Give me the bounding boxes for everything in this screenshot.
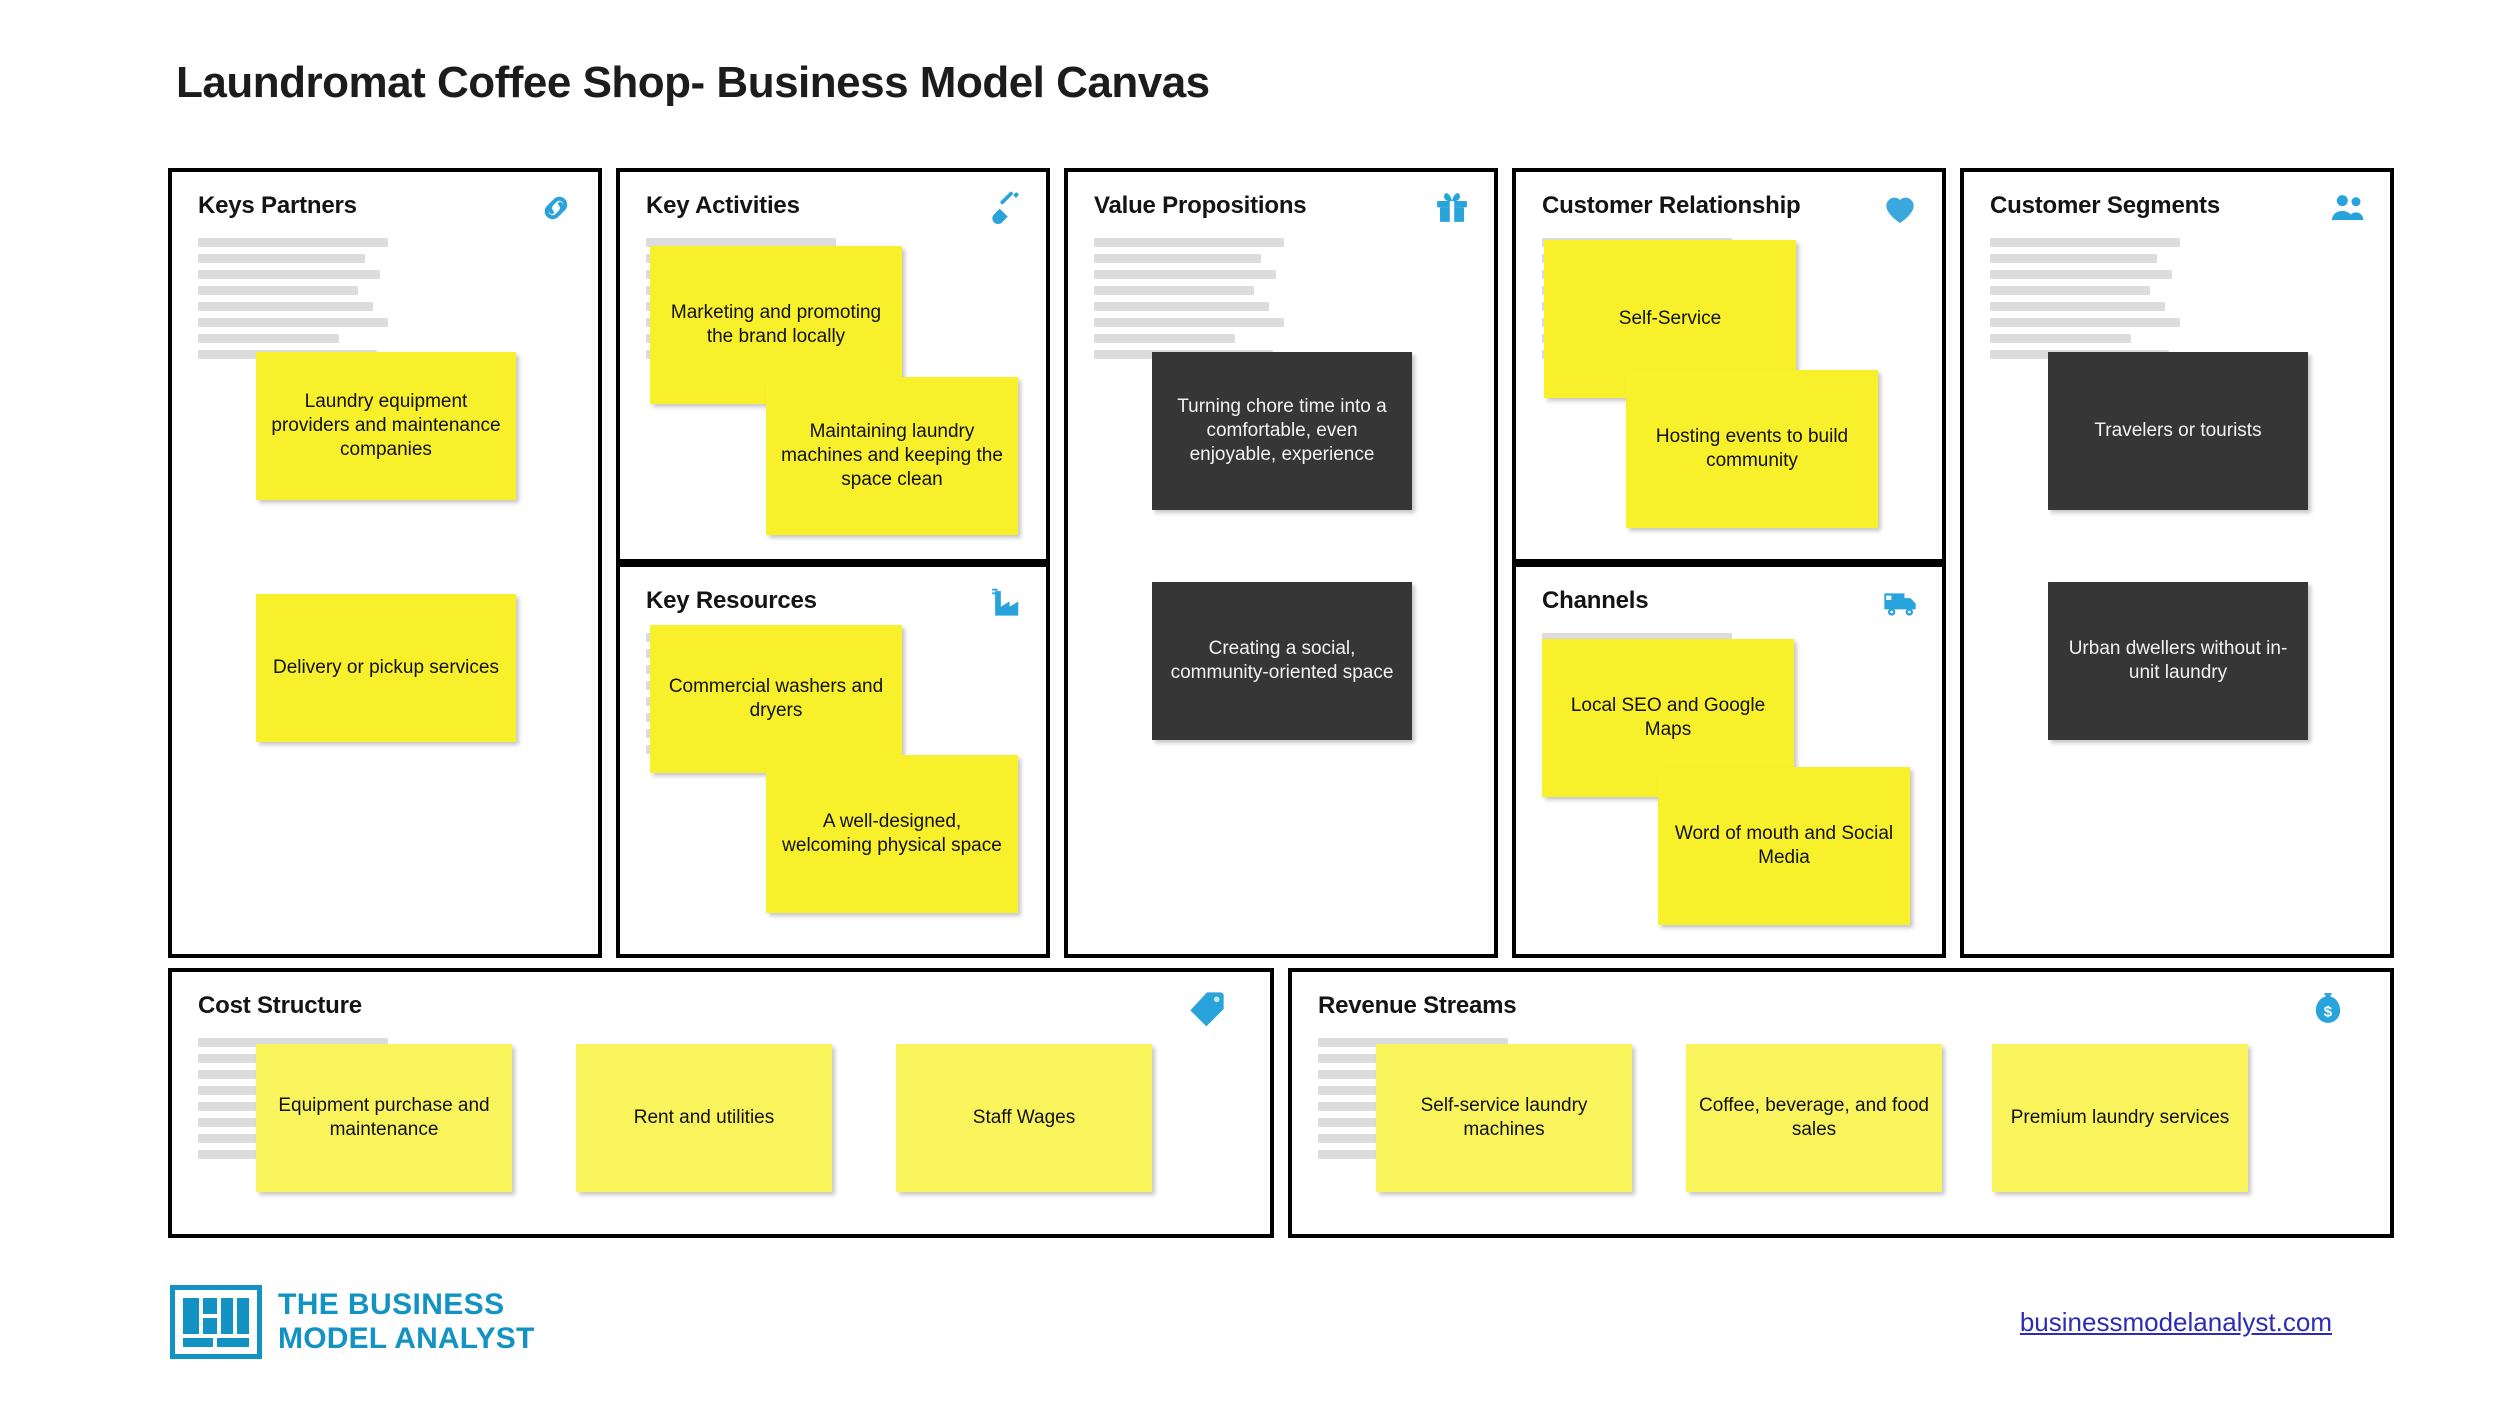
block-title: Customer Segments <box>1990 192 2370 220</box>
block-cost-structure[interactable]: Cost Structure Equipment purchase and ma… <box>168 968 1274 1238</box>
money-bag-icon: $ <box>2306 986 2350 1030</box>
block-title: Keys Partners <box>198 192 578 220</box>
block-header: Customer Segments <box>1990 192 2370 226</box>
canvas-grid: Keys Partners Laundry equipment provider… <box>168 168 2334 1238</box>
block-revenue-streams[interactable]: Revenue Streams $ Self-service laundry m… <box>1288 968 2394 1238</box>
block-title: Customer Relationship <box>1542 192 1922 220</box>
heart-icon <box>1878 186 1922 230</box>
block-header: Customer Relationship <box>1542 192 1922 226</box>
sticky-note[interactable]: Staff Wages <box>896 1044 1152 1192</box>
block-header: Key Resources <box>646 587 1026 621</box>
sticky-note[interactable]: Self-service laundry machines <box>1376 1044 1632 1192</box>
sticky-note[interactable]: Equipment purchase and maintenance <box>256 1044 512 1192</box>
placeholder-lines <box>1094 238 1284 366</box>
block-customer-segments[interactable]: Customer Segments Travelers or tourists … <box>1960 168 2394 958</box>
sticky-note[interactable]: A well-designed, welcoming physical spac… <box>766 755 1018 913</box>
brand-line-1: THE BUSINESS <box>278 1288 535 1322</box>
block-header: Key Activities <box>646 192 1026 226</box>
block-title: Value Propositions <box>1094 192 1474 220</box>
block-header: Keys Partners <box>198 192 578 226</box>
brand-line-2: MODEL ANALYST <box>278 1322 535 1356</box>
sticky-note[interactable]: Premium laundry services <box>1992 1044 2248 1192</box>
brand-logo-text: THE BUSINESS MODEL ANALYST <box>278 1288 535 1355</box>
page-title: Laundromat Coffee Shop- Business Model C… <box>176 58 1210 108</box>
sticky-note[interactable]: Hosting events to build community <box>1626 370 1878 528</box>
business-model-canvas-page: Laundromat Coffee Shop- Business Model C… <box>0 0 2500 1406</box>
block-header: Cost Structure <box>198 992 1250 1026</box>
block-title: Channels <box>1542 587 1922 615</box>
svg-text:$: $ <box>2324 1004 2333 1021</box>
price-tag-icon <box>1186 986 1230 1030</box>
sticky-note[interactable]: Creating a social, community-oriented sp… <box>1152 582 1412 740</box>
people-icon <box>2326 186 2370 230</box>
brand-logo[interactable]: THE BUSINESS MODEL ANALYST <box>170 1285 535 1359</box>
block-header: Revenue Streams $ <box>1318 992 2370 1026</box>
sticky-note[interactable]: Urban dwellers without in-unit laundry <box>2048 582 2308 740</box>
factory-icon <box>982 581 1026 625</box>
block-key-activities[interactable]: Key Activities Marketing and promoting t… <box>616 168 1050 563</box>
sticky-note[interactable]: Travelers or tourists <box>2048 352 2308 510</box>
sticky-note[interactable]: Commercial washers and dryers <box>650 625 902 773</box>
block-key-partners[interactable]: Keys Partners Laundry equipment provider… <box>168 168 602 958</box>
block-title: Cost Structure <box>198 992 1250 1020</box>
sticky-note[interactable]: Turning chore time into a comfortable, e… <box>1152 352 1412 510</box>
block-channels[interactable]: Channels Local SEO and Google Map <box>1512 563 1946 958</box>
bmc-grid-logo-icon <box>170 1285 262 1359</box>
sticky-note[interactable]: Maintaining laundry machines and keeping… <box>766 377 1018 535</box>
gift-icon <box>1430 186 1474 230</box>
sticky-note[interactable]: Rent and utilities <box>576 1044 832 1192</box>
sticky-note[interactable]: Coffee, beverage, and food sales <box>1686 1044 1942 1192</box>
block-header: Channels <box>1542 587 1922 621</box>
block-customer-relationship[interactable]: Customer Relationship Self-Service Hosti… <box>1512 168 1946 563</box>
block-value-propositions[interactable]: Value Propositions Turning chore time in… <box>1064 168 1498 958</box>
placeholder-lines <box>1990 238 2180 366</box>
block-title: Key Resources <box>646 587 1026 615</box>
sticky-note[interactable]: Delivery or pickup services <box>256 594 516 742</box>
shovel-icon <box>982 186 1026 230</box>
truck-icon <box>1878 581 1922 625</box>
block-key-resources[interactable]: Key Resources Commercial washers and dry… <box>616 563 1050 958</box>
sticky-note[interactable]: Laundry equipment providers and maintena… <box>256 352 516 500</box>
block-title: Revenue Streams <box>1318 992 2370 1020</box>
block-title: Key Activities <box>646 192 1026 220</box>
block-header: Value Propositions <box>1094 192 1474 226</box>
website-link[interactable]: businessmodelanalyst.com <box>2020 1307 2332 1338</box>
link-icon <box>534 186 578 230</box>
placeholder-lines <box>198 238 388 366</box>
sticky-note[interactable]: Word of mouth and Social Media <box>1658 767 1910 925</box>
